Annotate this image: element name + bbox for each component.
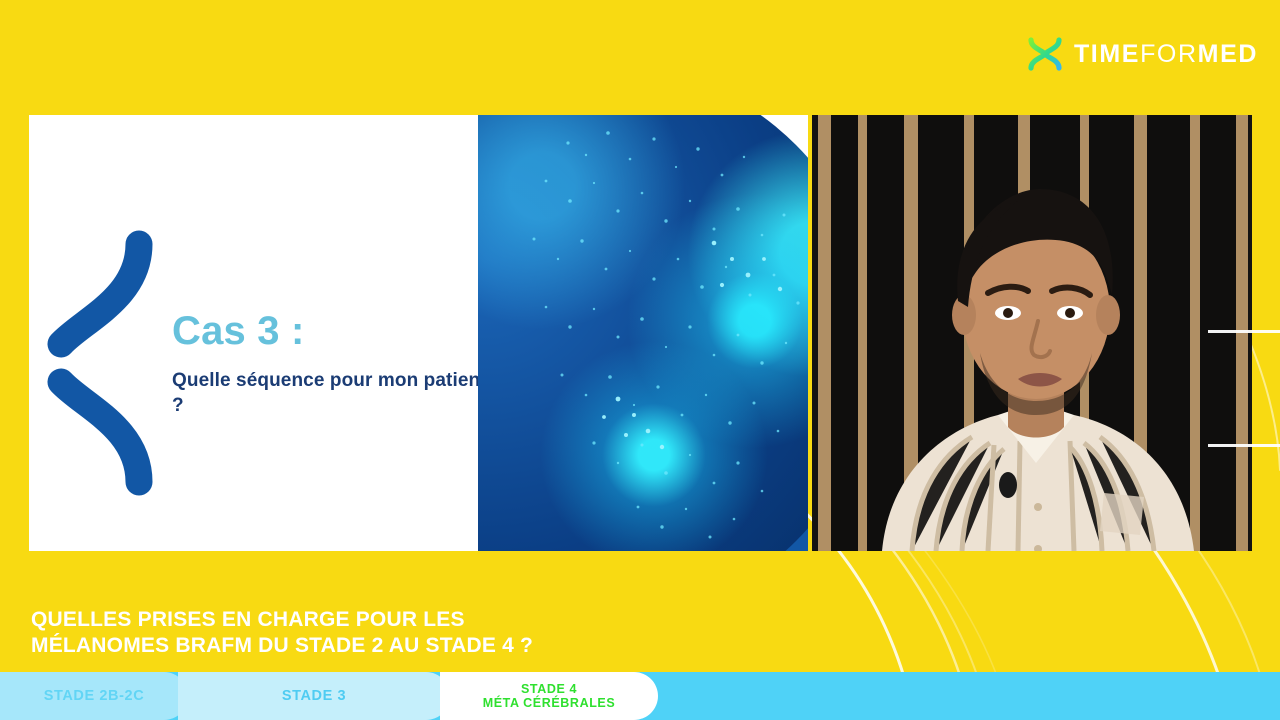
speaker-video-feed[interactable]: [812, 115, 1252, 551]
banner-headline-line-1: QUELLES PRISES EN CHARGE POUR LES: [31, 607, 731, 633]
speaker-figure: [812, 115, 1252, 551]
slide-case-title: Cas 3 :: [172, 310, 502, 352]
tab-stade-4-sublabel: MÉTA CÉRÉBRALES: [483, 696, 616, 710]
banner-headline-line-2: MÉLANOMES BRAFm DU STADE 2 AU STADE 4 ?: [31, 633, 731, 659]
lapel-microphone-icon: [999, 472, 1017, 498]
brand-word-time: TIME: [1074, 40, 1140, 68]
slide-case-subtitle: Quelle séquence pour mon patient ?: [172, 368, 502, 418]
slide-text-block: Cas 3 : Quelle séquence pour mon patient…: [172, 310, 502, 418]
edge-accent-tick: [1208, 330, 1280, 333]
brand-word-med: MED: [1198, 40, 1258, 68]
tab-stade-2b-2c[interactable]: STADE 2B-2C: [0, 672, 188, 720]
tab-stade-3-label: STADE 3: [282, 688, 346, 704]
edge-accent-tick: [1208, 444, 1280, 447]
brand-wordmark: TIMEFORMED: [1074, 42, 1258, 67]
stage-tab-bar: STADE 2B-2C STADE 3 STADE 4 MÉTA CÉRÉBRA…: [0, 672, 1280, 720]
timeformed-x-mark-icon: [1025, 36, 1065, 72]
tab-stade-4-label: STADE 4: [483, 682, 616, 696]
lower-third-banner: QUELLES PRISES EN CHARGE POUR LES MÉLANO…: [0, 600, 1280, 672]
slide-globe-image: [478, 115, 808, 551]
brand-logo: TIMEFORMED: [1025, 36, 1258, 72]
tab-stade-3[interactable]: STADE 3: [178, 672, 450, 720]
tab-stade-2b-2c-label: STADE 2B-2C: [44, 688, 145, 704]
presentation-slide: Cas 3 : Quelle séquence pour mon patient…: [29, 115, 808, 551]
tab-stade-4-meta-cerebrales[interactable]: STADE 4 MÉTA CÉRÉBRALES: [440, 672, 658, 720]
globe-sphere: [478, 115, 808, 551]
blue-bracket-mark-icon: [43, 228, 158, 498]
banner-headline: QUELLES PRISES EN CHARGE POUR LES MÉLANO…: [31, 607, 731, 660]
brand-word-for: FOR: [1140, 40, 1198, 68]
globe-particle-dots: [478, 115, 808, 551]
